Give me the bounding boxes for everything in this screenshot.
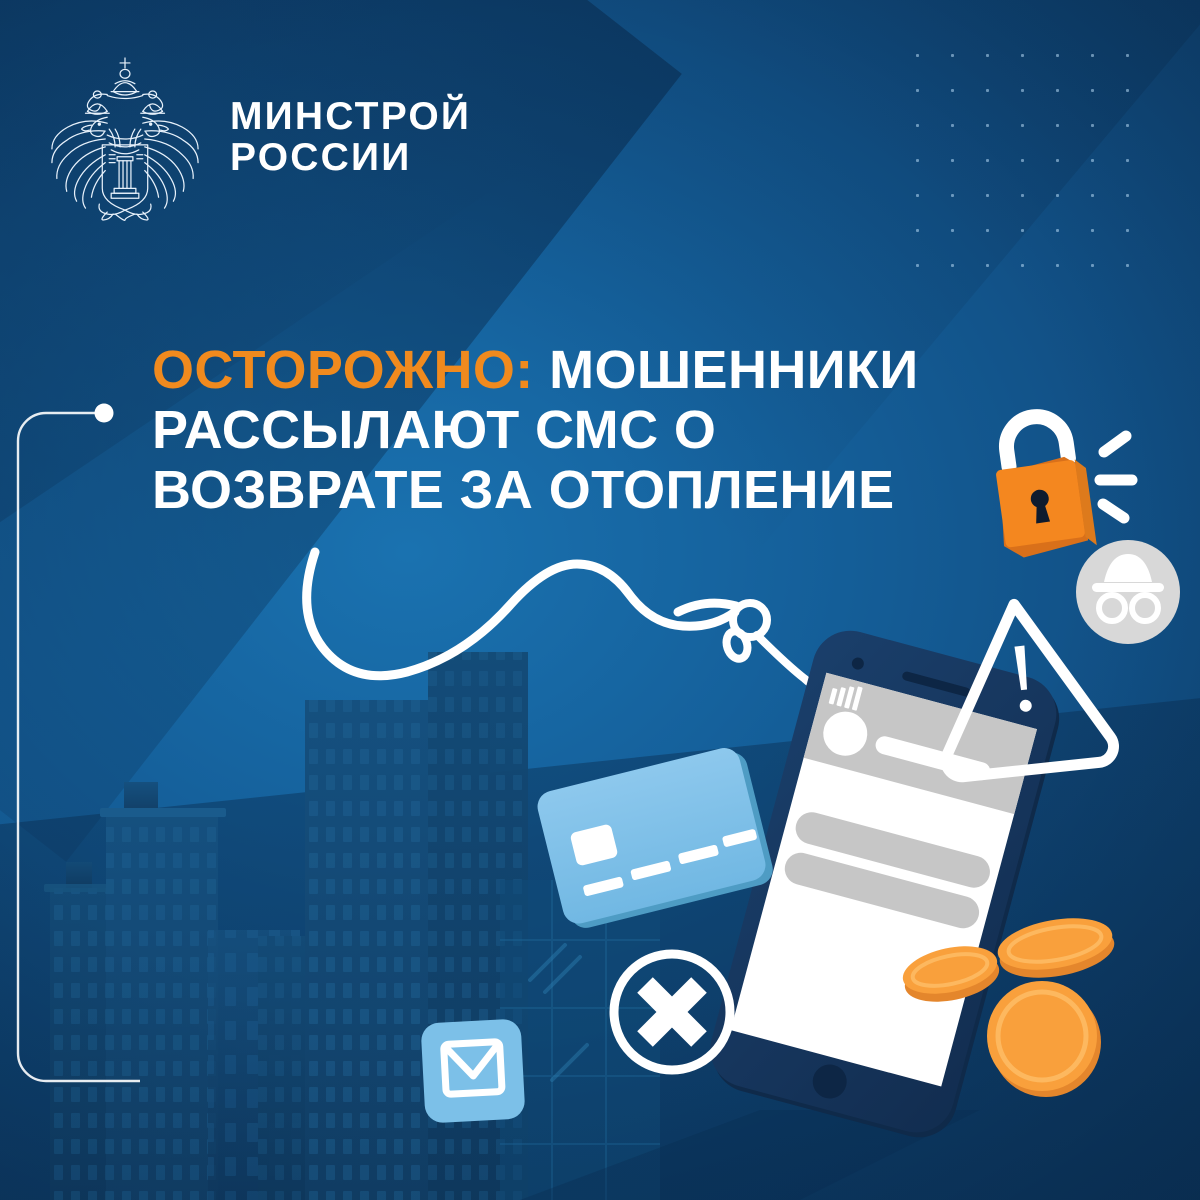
coin [994, 910, 1119, 985]
error-cross-circle-icon [614, 954, 730, 1070]
coin [987, 981, 1101, 1097]
poster-canvas: МИНСТРОЙ РОССИИ ОСТОРОЖНО: МОШЕННИКИ РАС… [0, 0, 1200, 1200]
lock-alert-lines [1100, 436, 1132, 518]
phishing-hook-line [307, 552, 736, 676]
padlock-icon [987, 411, 1097, 560]
illustration-layer [0, 0, 1200, 1200]
incognito-badge-icon [1076, 540, 1180, 644]
envelope-tile-icon[interactable] [420, 1018, 525, 1123]
credit-card[interactable] [534, 743, 776, 933]
hook-loop [723, 603, 815, 684]
